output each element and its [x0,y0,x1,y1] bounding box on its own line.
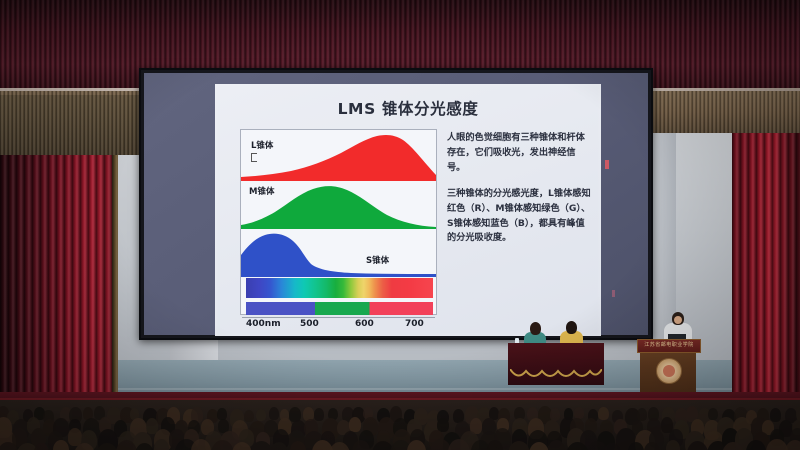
podium-banner-text: 江苏省邮电职业学院 [638,340,700,350]
s-cone-label: S锥体 [366,254,389,266]
continuous-spectrum-bar [246,278,433,298]
presentation-slide: LMS 锥体分光感度 L锥体 M锥体 S锥体 [215,84,601,336]
audience-head [785,440,800,450]
seated-person-1-head [530,322,541,335]
slide-paragraph-1: 人眼的色觉细胞有三种锥体和杆体存在，它们吸收光，发出神经信号。 [447,131,593,176]
rgb-band-bar [246,302,433,315]
audience-head [770,408,781,422]
speaker-face [674,316,682,324]
audience-head [666,440,681,450]
y-axis-tick-marker [251,153,257,162]
audience-head [598,407,609,420]
podium-banner: 江苏省邮电职业学院 [637,339,701,353]
m-cone-label: M锥体 [249,185,274,197]
screen-indicator-dot-secondary [612,290,615,297]
judges-table [508,343,604,385]
audience-head [574,407,584,419]
audience-head [548,440,565,450]
slide-title: LMS 锥体分光感度 [215,97,601,119]
audience-head [256,409,266,422]
wavelength-axis: 400nm 500 600 700 [242,317,435,332]
l-cone-label: L锥体 [251,139,273,151]
screen-indicator-dot [605,160,609,169]
seated-person-2-head [566,321,577,334]
audience-head [708,408,718,420]
audience-head [349,417,361,432]
s-cone-curve-pane [241,229,436,277]
axis-tick-400nm: 400nm [246,319,281,329]
podium-emblem-inner [663,365,675,377]
audience-head [796,406,800,421]
audience-head [637,408,647,421]
audience-head [269,407,280,420]
s-cone-curve [241,229,436,277]
table-skirt-trim [510,369,602,383]
slide-body-text: 人眼的色觉细胞有三种锥体和杆体存在，它们吸收光，发出神经信号。 三种锥体的分光感… [447,131,593,257]
audience-head [244,410,254,422]
axis-tick-700: 700 [405,319,424,329]
audience-head [766,439,787,450]
auditorium-photo: LMS 锥体分光感度 L锥体 M锥体 S锥体 [0,0,800,450]
podium-emblem [656,358,682,384]
audience-seating [0,400,800,450]
cone-sensitivity-chart: L锥体 M锥体 S锥体 400nm 500 600 700 [240,129,437,315]
axis-tick-500: 500 [300,319,319,329]
audience-head [314,408,324,421]
slide-paragraph-2: 三种锥体的分光感光度，L锥体感知红色（R）、M锥体感知绿色（G）、S锥体感知蓝色… [447,187,593,247]
audience-head [53,440,69,450]
axis-tick-600: 600 [355,319,374,329]
audience-head [487,440,503,450]
